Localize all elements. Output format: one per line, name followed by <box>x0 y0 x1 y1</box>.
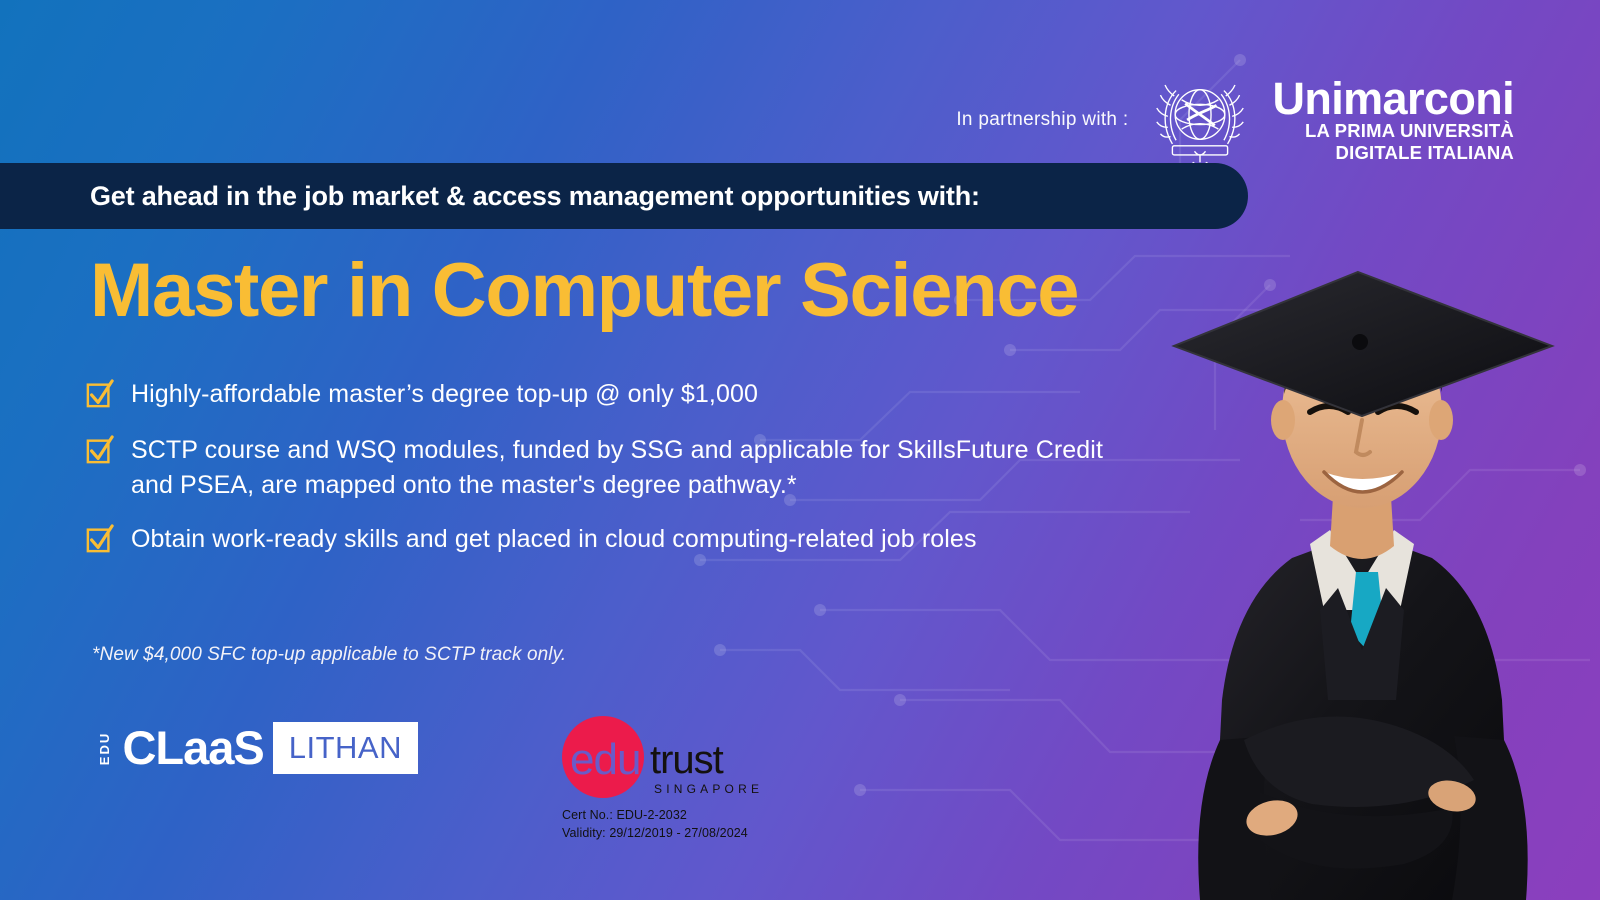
graduate-student-photo <box>1152 180 1572 900</box>
list-item: SCTP course and WSQ modules, funded by S… <box>86 433 1146 502</box>
edutrust-country-text: SINGAPORE <box>654 782 763 796</box>
edutrust-logo: edu trust SINGAPORE <box>562 716 748 798</box>
list-item: Obtain work-ready skills and get placed … <box>86 522 1146 556</box>
edutrust-trust-text: trust <box>650 740 723 780</box>
globe-laurel-crest-icon <box>1154 72 1246 168</box>
university-tagline-line1: LA PRIMA UNIVERSITÀ <box>1305 120 1514 142</box>
list-item-label: SCTP course and WSQ modules, funded by S… <box>114 433 1146 502</box>
partnership-lockup: In partnership with : <box>956 72 1514 168</box>
edutrust-certification: edu trust SINGAPORE Cert No.: EDU-2-2032… <box>562 716 792 842</box>
educlaas-wordmark: CLaaS <box>122 722 263 774</box>
educlaas-lithan-logos: EDU CLaaS LITHAN <box>88 722 418 774</box>
lithan-logo: LITHAN <box>273 722 418 774</box>
footnote-text: *New $4,000 SFC top-up applicable to SCT… <box>92 644 566 666</box>
edutrust-edu-text: edu <box>570 738 640 782</box>
list-item-label: Obtain work-ready skills and get placed … <box>114 522 977 556</box>
list-item-label: Highly-affordable master’s degree top-up… <box>114 377 758 411</box>
checkbox-check-icon <box>86 379 114 409</box>
university-wordmark: Unimarconi LA PRIMA UNIVERSITÀ DIGITALE … <box>1272 77 1514 164</box>
page-title: Master in Computer Science <box>90 253 1078 329</box>
list-item: Highly-affordable master’s degree top-up… <box>86 377 1146 411</box>
edutrust-cert-details: Cert No.: EDU-2-2032 Validity: 29/12/201… <box>562 806 792 842</box>
university-tagline-line2: DIGITALE ITALIANA <box>1336 142 1514 164</box>
lithan-wordmark: LITHAN <box>289 730 402 766</box>
cert-number: Cert No.: EDU-2-2032 <box>562 806 792 824</box>
benefits-list: Highly-affordable master’s degree top-up… <box>86 377 1146 578</box>
promo-banner: In partnership with : <box>0 0 1600 900</box>
edu-prefix-label: EDU <box>98 731 111 764</box>
checkbox-check-icon <box>86 435 114 465</box>
university-name: Unimarconi <box>1272 77 1514 120</box>
checkbox-check-icon <box>86 524 114 554</box>
headline-text: Get ahead in the job market & access man… <box>0 181 980 212</box>
headline-bar: Get ahead in the job market & access man… <box>0 163 1248 229</box>
partnership-label: In partnership with : <box>956 109 1128 131</box>
cert-validity: Validity: 29/12/2019 - 27/08/2024 <box>562 824 792 842</box>
edu-vertical-mark: EDU <box>88 722 121 774</box>
